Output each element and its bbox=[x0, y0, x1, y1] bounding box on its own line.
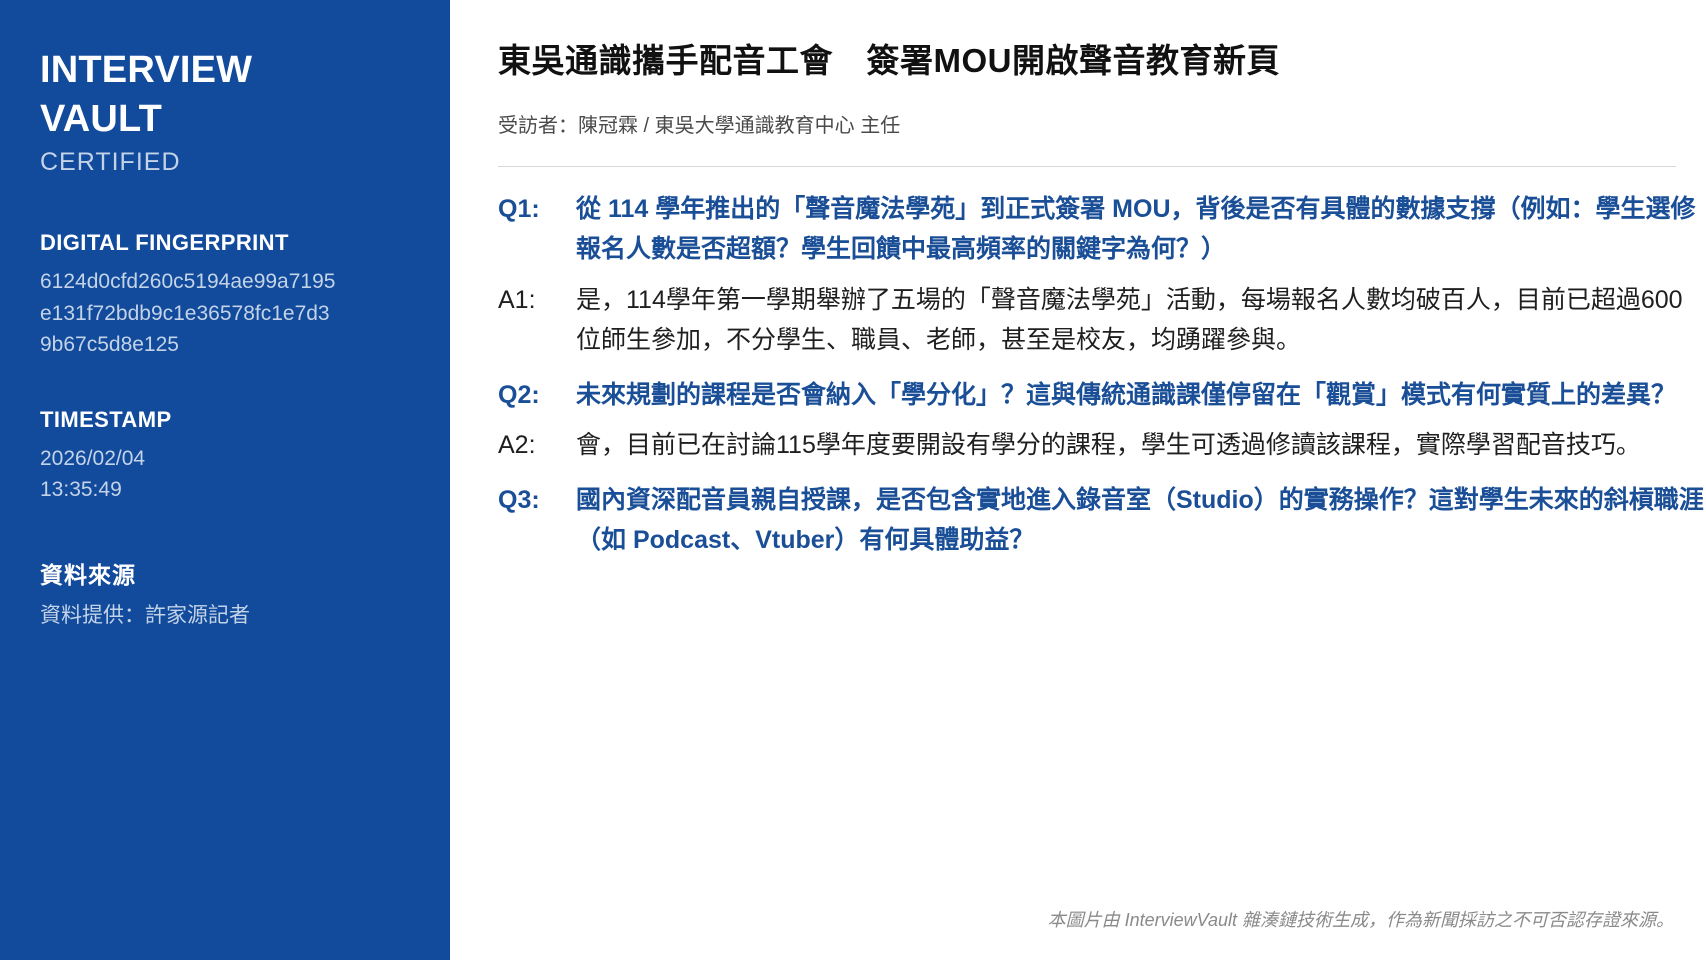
question-key: Q2: bbox=[498, 375, 576, 416]
answer-text: 會，目前已在討論115學年度要開設有學分的課程，學生可透過修讀該課程，實際學習配… bbox=[576, 425, 1706, 466]
interviewee-line: 受訪者：陳冠霖 / 東吳大學通識教育中心 主任 bbox=[498, 109, 1706, 138]
question-key: Q1: bbox=[498, 189, 576, 230]
timestamp-date: 2026/02/04 bbox=[40, 443, 340, 475]
brand-block: INTERVIEW VAULT CERTIFIED bbox=[40, 46, 410, 178]
timestamp-label: TIMESTAMP bbox=[40, 407, 410, 433]
page-title: 東吳通識攜手配音工會 簽署MOU開啟聲音教育新頁 bbox=[498, 40, 1706, 83]
qa-list: Q1:從 114 學年推出的「聲音魔法學苑」到正式簽署 MOU，背後是否有具體的… bbox=[498, 189, 1706, 561]
question-row: Q1:從 114 學年推出的「聲音魔法學苑」到正式簽署 MOU，背後是否有具體的… bbox=[498, 189, 1706, 270]
brand-subtitle-certified: CERTIFIED bbox=[40, 147, 410, 178]
sidebar: INTERVIEW VAULT CERTIFIED DIGITAL FINGER… bbox=[0, 0, 450, 960]
question-text: 從 114 學年推出的「聲音魔法學苑」到正式簽署 MOU，背後是否有具體的數據支… bbox=[576, 189, 1706, 270]
answer-text: 是，114學年第一學期舉辦了五場的「聲音魔法學苑」活動，每場報名人數均破百人，目… bbox=[576, 280, 1706, 361]
data-source-label: 資料來源 bbox=[40, 556, 410, 590]
question-key: Q3: bbox=[498, 480, 576, 521]
data-source-value: 資料提供：許家源記者 bbox=[40, 600, 340, 632]
timestamp-block: TIMESTAMP 2026/02/04 13:35:49 bbox=[40, 407, 410, 506]
answer-key: A1: bbox=[498, 280, 576, 321]
footer-disclaimer: 本圖片由 InterviewVault 雜湊鏈技術生成，作為新聞採訪之不可否認存… bbox=[1048, 906, 1674, 932]
header-divider bbox=[498, 166, 1676, 167]
brand-title-line1: INTERVIEW bbox=[40, 46, 410, 95]
main-content: 東吳通識攜手配音工會 簽署MOU開啟聲音教育新頁 受訪者：陳冠霖 / 東吳大學通… bbox=[450, 0, 1706, 960]
timestamp-time: 13:35:49 bbox=[40, 474, 340, 506]
question-text: 國內資深配音員親自授課，是否包含實地進入錄音室（Studio）的實務操作？這對學… bbox=[576, 480, 1706, 561]
digital-fingerprint-value: 6124d0cfd260c5194ae99a7195e131f72bdb9c1e… bbox=[40, 266, 338, 361]
interview-vault-certificate: INTERVIEW VAULT CERTIFIED DIGITAL FINGER… bbox=[0, 0, 1706, 960]
question-row: Q2:未來規劃的課程是否會納入「學分化」？這與傳統通識課僅停留在「觀賞」模式有何… bbox=[498, 375, 1706, 416]
question-text: 未來規劃的課程是否會納入「學分化」？這與傳統通識課僅停留在「觀賞」模式有何實質上… bbox=[576, 375, 1706, 416]
question-row: Q3:國內資深配音員親自授課，是否包含實地進入錄音室（Studio）的實務操作？… bbox=[498, 480, 1706, 561]
data-source-block: 資料來源 資料提供：許家源記者 bbox=[40, 556, 410, 632]
answer-row: A1:是，114學年第一學期舉辦了五場的「聲音魔法學苑」活動，每場報名人數均破百… bbox=[498, 280, 1706, 361]
digital-fingerprint-label: DIGITAL FINGERPRINT bbox=[40, 230, 410, 256]
answer-row: A2:會，目前已在討論115學年度要開設有學分的課程，學生可透過修讀該課程，實際… bbox=[498, 425, 1706, 466]
answer-key: A2: bbox=[498, 425, 576, 466]
brand-title-line2: VAULT bbox=[40, 95, 410, 144]
digital-fingerprint-block: DIGITAL FINGERPRINT 6124d0cfd260c5194ae9… bbox=[40, 230, 410, 361]
